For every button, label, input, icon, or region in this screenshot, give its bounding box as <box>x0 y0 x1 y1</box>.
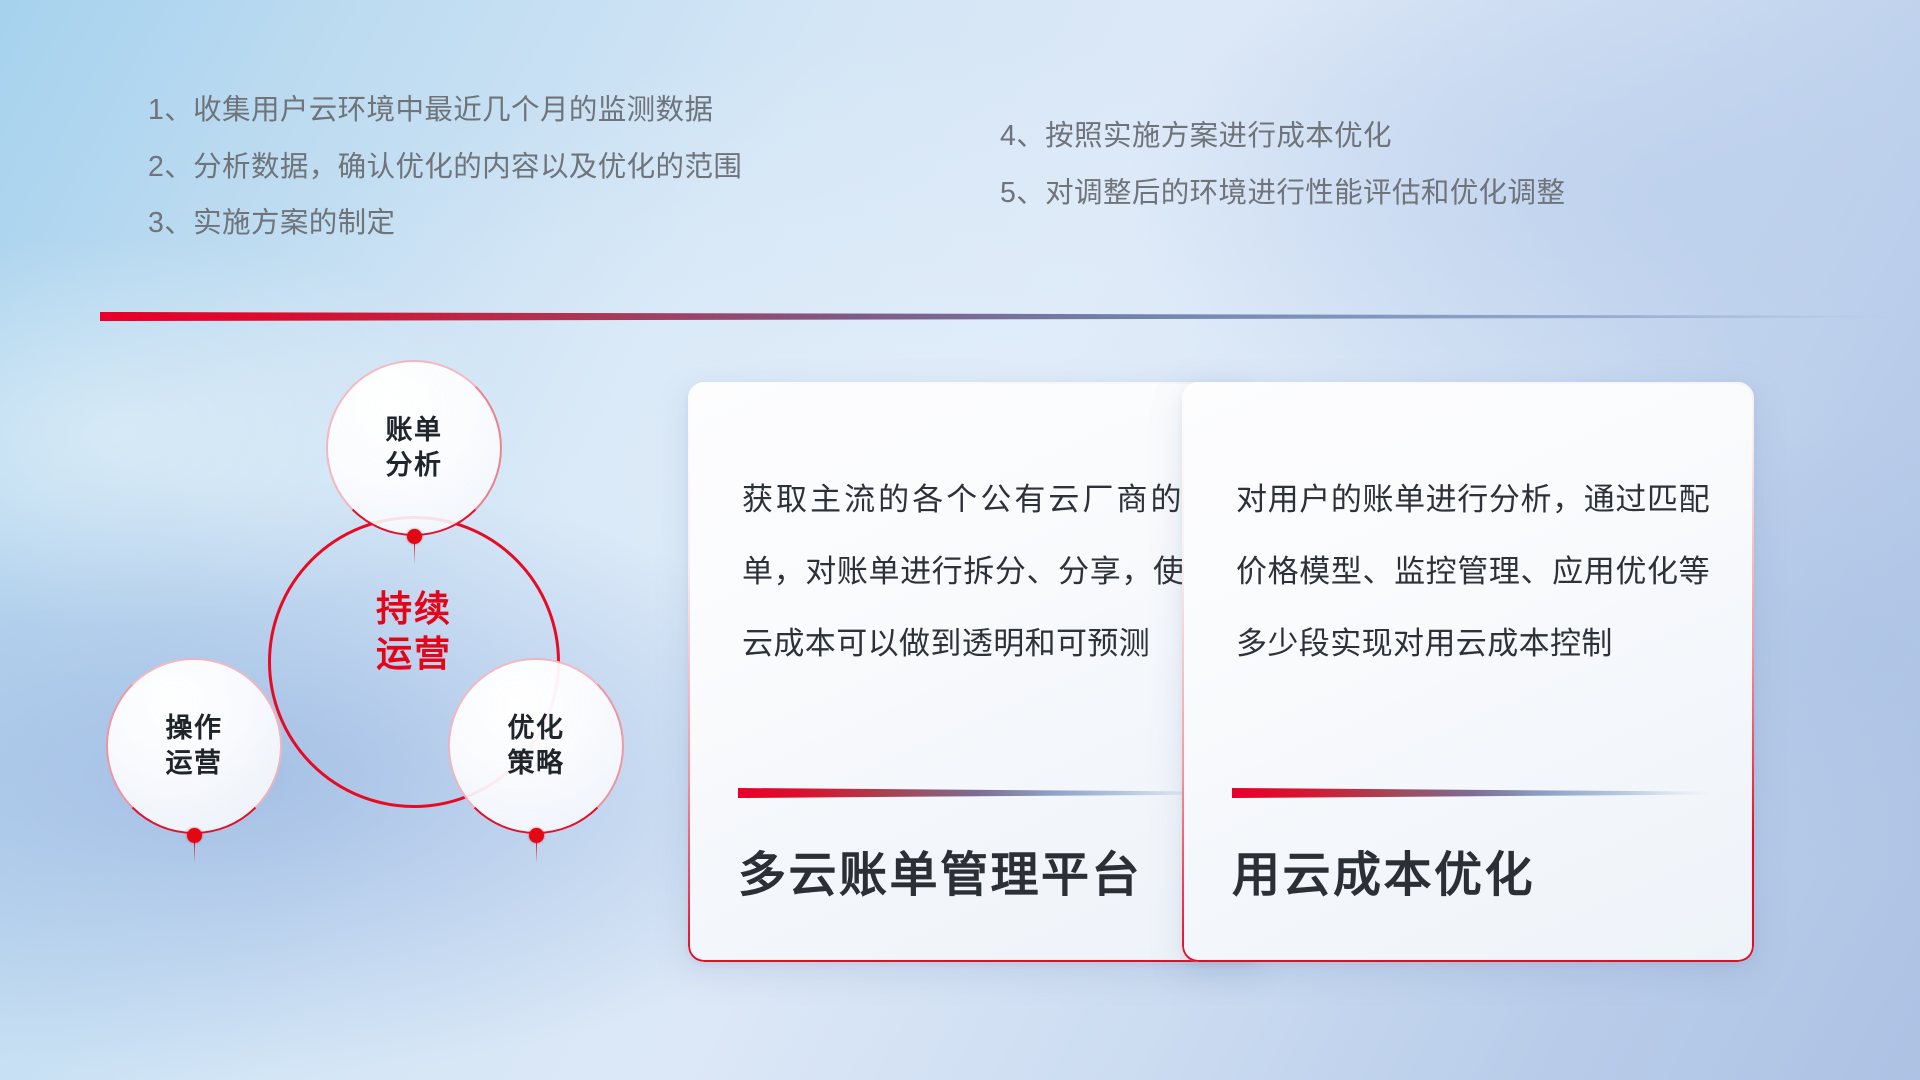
node-label-line1: 操作 <box>166 711 223 746</box>
node-label-line1: 账单 <box>386 413 443 448</box>
node-label-line2: 运营 <box>166 746 223 781</box>
center-label-line1: 持续 <box>268 586 560 631</box>
card-title: 用云成本优化 <box>1232 850 1714 903</box>
cycle-node-optimization-strategy[interactable]: 优化 策略 <box>448 658 624 834</box>
slide-canvas: 1、收集用户云环境中最近几个月的监测数据 2、分析数据，确认优化的内容以及优化的… <box>0 0 1920 1080</box>
card-divider-taper <box>1232 788 1710 798</box>
card-description: 对用户的账单进行分析，通过匹配价格模型、监控管理、应用优化等多少段实现对用云成本… <box>1236 464 1710 681</box>
cycle-node-billing-analysis[interactable]: 账单 分析 <box>326 360 502 536</box>
step-item: 4、按照实施方案进行成本优化 <box>1000 122 1565 151</box>
step-item: 2、分析数据，确认优化的内容以及优化的范围 <box>148 153 742 182</box>
cycle-center-label: 持续 运营 <box>268 586 560 677</box>
feature-card-multicloud-billing[interactable]: 获取主流的各个公有云厂商的账单，对账单进行拆分、分享，使得云成本可以做到透明和可… <box>688 382 1260 962</box>
cycle-dot-icon <box>407 529 422 544</box>
section-divider <box>100 312 1890 321</box>
node-tick-icon <box>536 841 538 863</box>
center-label-line2: 运营 <box>268 631 560 676</box>
step-item: 5、对调整后的环境进行性能评估和优化调整 <box>1000 179 1565 208</box>
card-divider-taper <box>738 788 1216 798</box>
node-label-line1: 优化 <box>508 711 565 746</box>
cycle-node-operations[interactable]: 操作 运营 <box>106 658 282 834</box>
steps-list-left: 1、收集用户云环境中最近几个月的监测数据 2、分析数据，确认优化的内容以及优化的… <box>148 96 742 266</box>
node-label-line2: 分析 <box>386 448 443 483</box>
card-title: 多云账单管理平台 <box>738 850 1220 903</box>
cycle-dot-icon <box>187 828 202 843</box>
divider-taper <box>100 312 1890 321</box>
node-label-line2: 策略 <box>508 746 565 781</box>
card-description: 获取主流的各个公有云厂商的账单，对账单进行拆分、分享，使得云成本可以做到透明和可… <box>742 464 1216 681</box>
cycle-diagram: 账单 分析 操作 运营 优化 策略 持续 运营 <box>96 352 656 912</box>
node-tick-icon <box>194 841 196 863</box>
cycle-dot-icon <box>529 828 544 843</box>
card-divider <box>738 788 1216 798</box>
card-divider <box>1232 788 1710 798</box>
step-item: 1、收集用户云环境中最近几个月的监测数据 <box>148 96 742 125</box>
step-item: 3、实施方案的制定 <box>148 209 742 238</box>
feature-card-cost-optimization[interactable]: 对用户的账单进行分析，通过匹配价格模型、监控管理、应用优化等多少段实现对用云成本… <box>1182 382 1754 962</box>
steps-list-right: 4、按照实施方案进行成本优化 5、对调整后的环境进行性能评估和优化调整 <box>1000 122 1565 235</box>
node-tick-icon <box>414 542 416 564</box>
